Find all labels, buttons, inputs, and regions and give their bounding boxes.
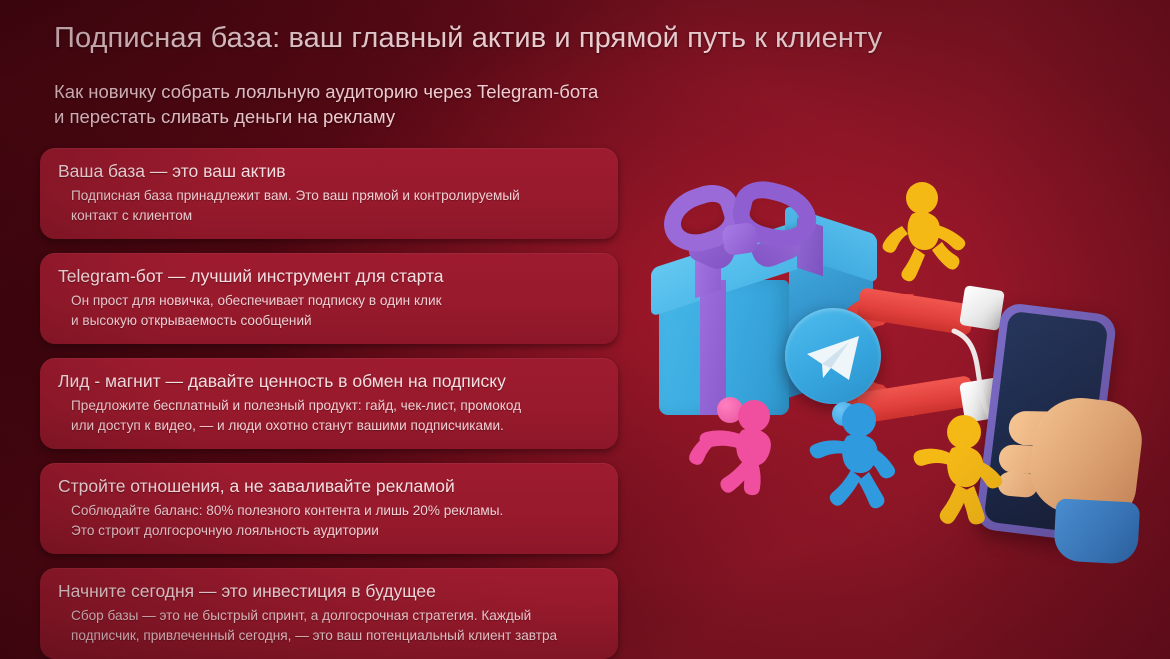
- card-body-line: контакт с клиентом: [71, 206, 600, 226]
- running-figure-yellow-bottom-icon: [908, 412, 1012, 542]
- card-body-line: или доступ к видео, — и люди охотно стан…: [71, 416, 600, 436]
- page-title: Подписная база: ваш главный актив и прям…: [54, 22, 882, 55]
- list-item: Ваша база — это ваш актив Подписная база…: [40, 148, 618, 239]
- card-body: Предложите бесплатный и полезный продукт…: [58, 393, 600, 436]
- card-body-line: Подписная база принадлежит вам. Это ваш …: [71, 186, 600, 206]
- card-body: Сбор базы — это не быстрый спринт, а дол…: [58, 603, 600, 646]
- card-body-line: подписчик, привлеченный сегодня, — это в…: [71, 626, 600, 646]
- running-figure-blue-icon: [805, 402, 913, 520]
- sleeve-cuff: [1053, 498, 1140, 564]
- card-title: Ваша база — это ваш актив: [58, 159, 600, 183]
- subtitle-line-2: и перестать сливать деньги на рекламу: [54, 104, 598, 129]
- illustration: [620, 150, 1170, 620]
- card-body: Он прост для новичка, обеспечивает подпи…: [58, 288, 600, 331]
- card-body-line: Это строит долгосрочную лояльность аудит…: [71, 521, 600, 541]
- card-title: Лид - магнит — давайте ценность в обмен …: [58, 369, 600, 393]
- hand-icon: [1003, 382, 1156, 557]
- running-figure-yellow-top-icon: [882, 180, 978, 290]
- card-body: Подписная база принадлежит вам. Это ваш …: [58, 183, 600, 226]
- list-item: Стройте отношения, а не заваливайте рекл…: [40, 463, 618, 554]
- card-title: Telegram-бот — лучший инструмент для ста…: [58, 264, 600, 288]
- list-item: Telegram-бот — лучший инструмент для ста…: [40, 253, 618, 344]
- card-body-line: Сбор базы — это не быстрый спринт, а дол…: [71, 606, 600, 626]
- card-body-line: и высокую открываемость сообщений: [71, 311, 600, 331]
- card-body: Соблюдайте баланс: 80% полезного контент…: [58, 498, 600, 541]
- list-item: Начните сегодня — это инвестиция в будущ…: [40, 568, 618, 659]
- telegram-icon: [785, 308, 881, 404]
- cards-list: Ваша база — это ваш актив Подписная база…: [40, 148, 618, 659]
- slide-canvas: Подписная база: ваш главный актив и прям…: [0, 0, 1170, 659]
- running-figure-pink-icon: [682, 398, 792, 506]
- card-title: Стройте отношения, а не заваливайте рекл…: [58, 474, 600, 498]
- page-subtitle: Как новичку собрать лояльную аудиторию ч…: [54, 79, 598, 129]
- gift-ribbon-vertical: [700, 280, 726, 415]
- card-title: Начните сегодня — это инвестиция в будущ…: [58, 579, 600, 603]
- gift-bow-knot: [721, 222, 759, 256]
- telegram-paper-plane-icon: [805, 334, 863, 382]
- card-body-line: Предложите бесплатный и полезный продукт…: [71, 396, 600, 416]
- subtitle-line-1: Как новичку собрать лояльную аудиторию ч…: [54, 79, 598, 104]
- card-body-line: Он прост для новичка, обеспечивает подпи…: [71, 291, 600, 311]
- card-body-line: Соблюдайте баланс: 80% полезного контент…: [71, 501, 600, 521]
- list-item: Лид - магнит — давайте ценность в обмен …: [40, 358, 618, 449]
